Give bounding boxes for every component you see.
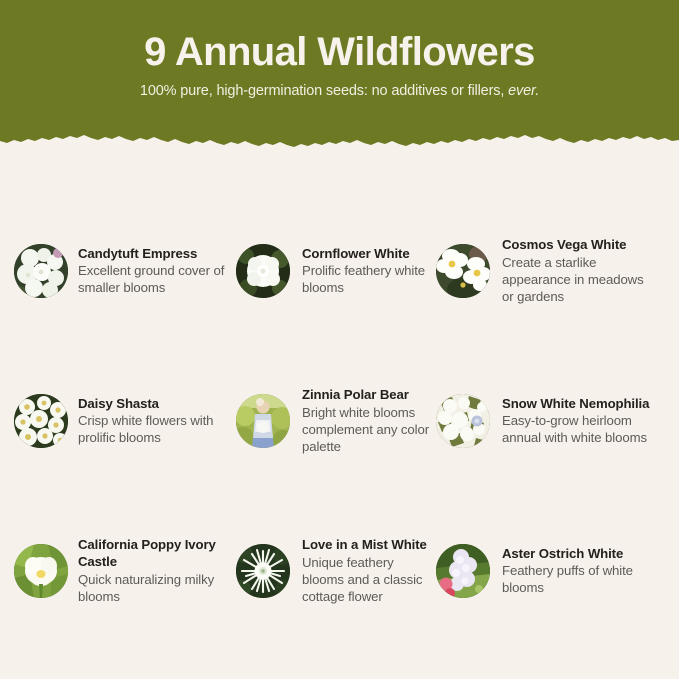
subtitle-emphasis-word: ever. xyxy=(508,83,539,99)
item-text-block: Snow White Nemophilia Easy-to-grow heirl… xyxy=(500,396,657,447)
flower-name: Cornflower White xyxy=(302,246,436,263)
item-text-block: Daisy Shasta Crisp white flowers with pr… xyxy=(78,396,236,447)
snow-white-nemophilia-photo xyxy=(436,394,490,448)
item-text-block: Love in a Mist White Unique feathery blo… xyxy=(300,537,436,605)
page-subtitle: 100% pure, high-germination seeds: no ad… xyxy=(0,74,679,99)
flower-description: Feathery puffs of white blooms xyxy=(502,562,657,596)
zinnia-polar-bear-photo xyxy=(236,394,290,448)
flower-description: Prolific feathery white blooms xyxy=(302,262,436,296)
flower-item-california-poppy-ivory-castle[interactable]: California Poppy Ivory Castle Quick natu… xyxy=(14,496,236,646)
flower-name: Aster Ostrich White xyxy=(502,546,657,563)
flower-name: Cosmos Vega White xyxy=(502,237,657,254)
candytuft-empress-photo xyxy=(14,244,68,298)
item-text-block: Zinnia Polar Bear Bright white blooms co… xyxy=(300,387,436,455)
flower-name: Candytuft Empress xyxy=(78,246,236,263)
flower-description: Create a starlike appearance in meadows … xyxy=(502,254,657,305)
daisy-shasta-photo xyxy=(14,394,68,448)
flower-item-cornflower-white[interactable]: Cornflower White Prolific feathery white… xyxy=(236,196,436,346)
subtitle-main-text: 100% pure, high-germination seeds: no ad… xyxy=(140,83,504,99)
flower-item-snow-white-nemophilia[interactable]: Snow White Nemophilia Easy-to-grow heirl… xyxy=(436,346,657,496)
flower-description: Quick naturalizing milky blooms xyxy=(78,571,236,605)
aster-ostrich-white-photo xyxy=(436,544,490,598)
item-text-block: Candytuft Empress Excellent ground cover… xyxy=(78,246,236,297)
flower-item-daisy-shasta[interactable]: Daisy Shasta Crisp white flowers with pr… xyxy=(14,346,236,496)
item-text-block: California Poppy Ivory Castle Quick natu… xyxy=(78,537,236,605)
header-banner: 9 Annual Wildflowers 100% pure, high-ger… xyxy=(0,0,679,158)
wildflower-variety-grid: Candytuft Empress Excellent ground cover… xyxy=(0,196,679,646)
cosmos-vega-white-photo xyxy=(436,244,490,298)
flower-description: Crisp white flowers with prolific blooms xyxy=(78,412,236,446)
flower-description: Unique feathery blooms and a classic cot… xyxy=(302,554,436,605)
header-text-block: 9 Annual Wildflowers 100% pure, high-ger… xyxy=(0,0,679,130)
california-poppy-ivory-castle-photo xyxy=(14,544,68,598)
flower-name: Zinnia Polar Bear xyxy=(302,387,436,404)
flower-item-candytuft-empress[interactable]: Candytuft Empress Excellent ground cover… xyxy=(14,196,236,346)
flower-description: Excellent ground cover of smaller blooms xyxy=(78,262,236,296)
flower-description: Bright white blooms complement any color… xyxy=(302,404,436,455)
cornflower-white-photo xyxy=(236,244,290,298)
item-text-block: Cosmos Vega White Create a starlike appe… xyxy=(500,237,657,305)
item-text-block: Aster Ostrich White Feathery puffs of wh… xyxy=(500,546,657,597)
flower-name: Snow White Nemophilia xyxy=(502,396,657,413)
flower-item-aster-ostrich-white[interactable]: Aster Ostrich White Feathery puffs of wh… xyxy=(436,496,657,646)
subtitle-emphasis-text: ever. xyxy=(504,83,539,99)
flower-item-cosmos-vega-white[interactable]: Cosmos Vega White Create a starlike appe… xyxy=(436,196,657,346)
flower-item-zinnia-polar-bear[interactable]: Zinnia Polar Bear Bright white blooms co… xyxy=(236,346,436,496)
flower-name: Daisy Shasta xyxy=(78,396,236,413)
flower-name: California Poppy Ivory Castle xyxy=(78,537,236,571)
item-text-block: Cornflower White Prolific feathery white… xyxy=(300,246,436,297)
flower-description: Easy-to-grow heirloom annual with white … xyxy=(502,412,657,446)
flower-item-love-in-a-mist-white[interactable]: Love in a Mist White Unique feathery blo… xyxy=(236,496,436,646)
love-in-a-mist-white-photo xyxy=(236,544,290,598)
page-title: 9 Annual Wildflowers xyxy=(0,0,679,74)
flower-name: Love in a Mist White xyxy=(302,537,436,554)
